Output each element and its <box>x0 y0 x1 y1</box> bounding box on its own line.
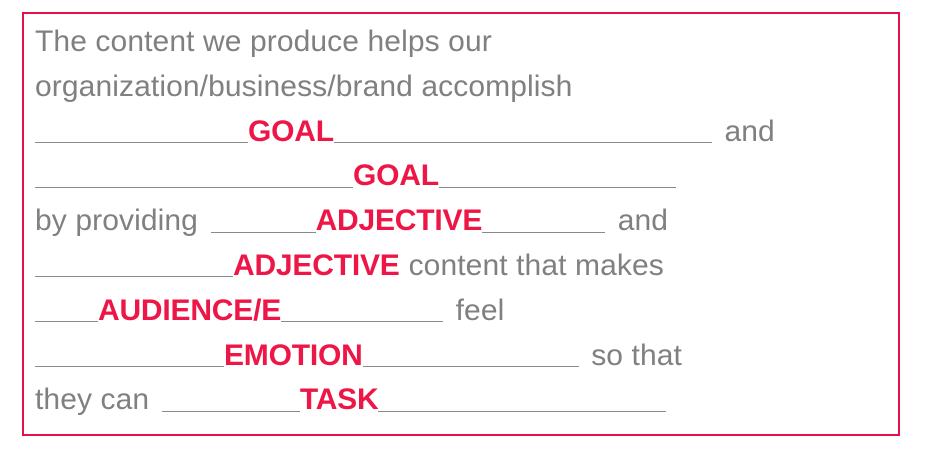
placeholder-token[interactable]: TASK <box>300 383 379 416</box>
statement-line: The content we produce helps our <box>35 20 888 65</box>
statement-line: ADJECTIVEcontent that makes <box>35 244 888 289</box>
blank-fill-line[interactable] <box>211 202 316 233</box>
statement-text: and <box>724 115 774 148</box>
statement-text: by providing <box>35 204 198 237</box>
blank-fill-line[interactable] <box>162 381 300 412</box>
statement-line: GOAL <box>35 154 888 199</box>
blank-fill-line[interactable] <box>482 202 605 233</box>
blank-fill-line[interactable] <box>35 157 353 188</box>
statement-line: they canTASK <box>35 378 888 423</box>
statement-line: EMOTIONso that <box>35 334 888 379</box>
statement-line: AUDIENCE/Efeel <box>35 289 888 334</box>
statement-text: and <box>618 204 668 237</box>
statement-text: The content we produce helps our <box>35 25 492 58</box>
blank-fill-line[interactable] <box>363 336 579 367</box>
madlib-frame: The content we produce helps ourorganiza… <box>22 12 900 436</box>
statement-block: The content we produce helps ourorganiza… <box>35 20 888 428</box>
screenshot-canvas: The content we produce helps ourorganiza… <box>0 0 930 452</box>
blank-fill-line[interactable] <box>35 336 224 367</box>
blank-fill-line[interactable] <box>35 246 233 277</box>
placeholder-token[interactable]: AUDIENCE/E <box>98 294 281 327</box>
blank-fill-line[interactable] <box>334 112 712 143</box>
statement-text: organization/business/brand accomplish <box>35 70 572 103</box>
statement-line: GOALand <box>35 110 888 155</box>
statement-text: feel <box>456 294 505 327</box>
statement-line: by providingADJECTIVEand <box>35 199 888 244</box>
placeholder-token[interactable]: EMOTION <box>224 339 363 372</box>
statement-line: organization/business/brand accomplish <box>35 65 888 110</box>
blank-fill-line[interactable] <box>439 157 676 188</box>
placeholder-token[interactable]: ADJECTIVE <box>316 204 483 237</box>
statement-text: so that <box>591 339 682 372</box>
blank-fill-line[interactable] <box>35 291 98 322</box>
placeholder-token[interactable]: ADJECTIVE <box>233 249 400 282</box>
placeholder-token[interactable]: GOAL <box>248 115 334 148</box>
blank-fill-line[interactable] <box>281 291 443 322</box>
statement-text: content that makes <box>409 249 664 282</box>
blank-fill-line[interactable] <box>35 112 248 143</box>
blank-fill-line[interactable] <box>378 381 666 412</box>
placeholder-token[interactable]: GOAL <box>353 159 439 192</box>
statement-text: they can <box>35 383 149 416</box>
